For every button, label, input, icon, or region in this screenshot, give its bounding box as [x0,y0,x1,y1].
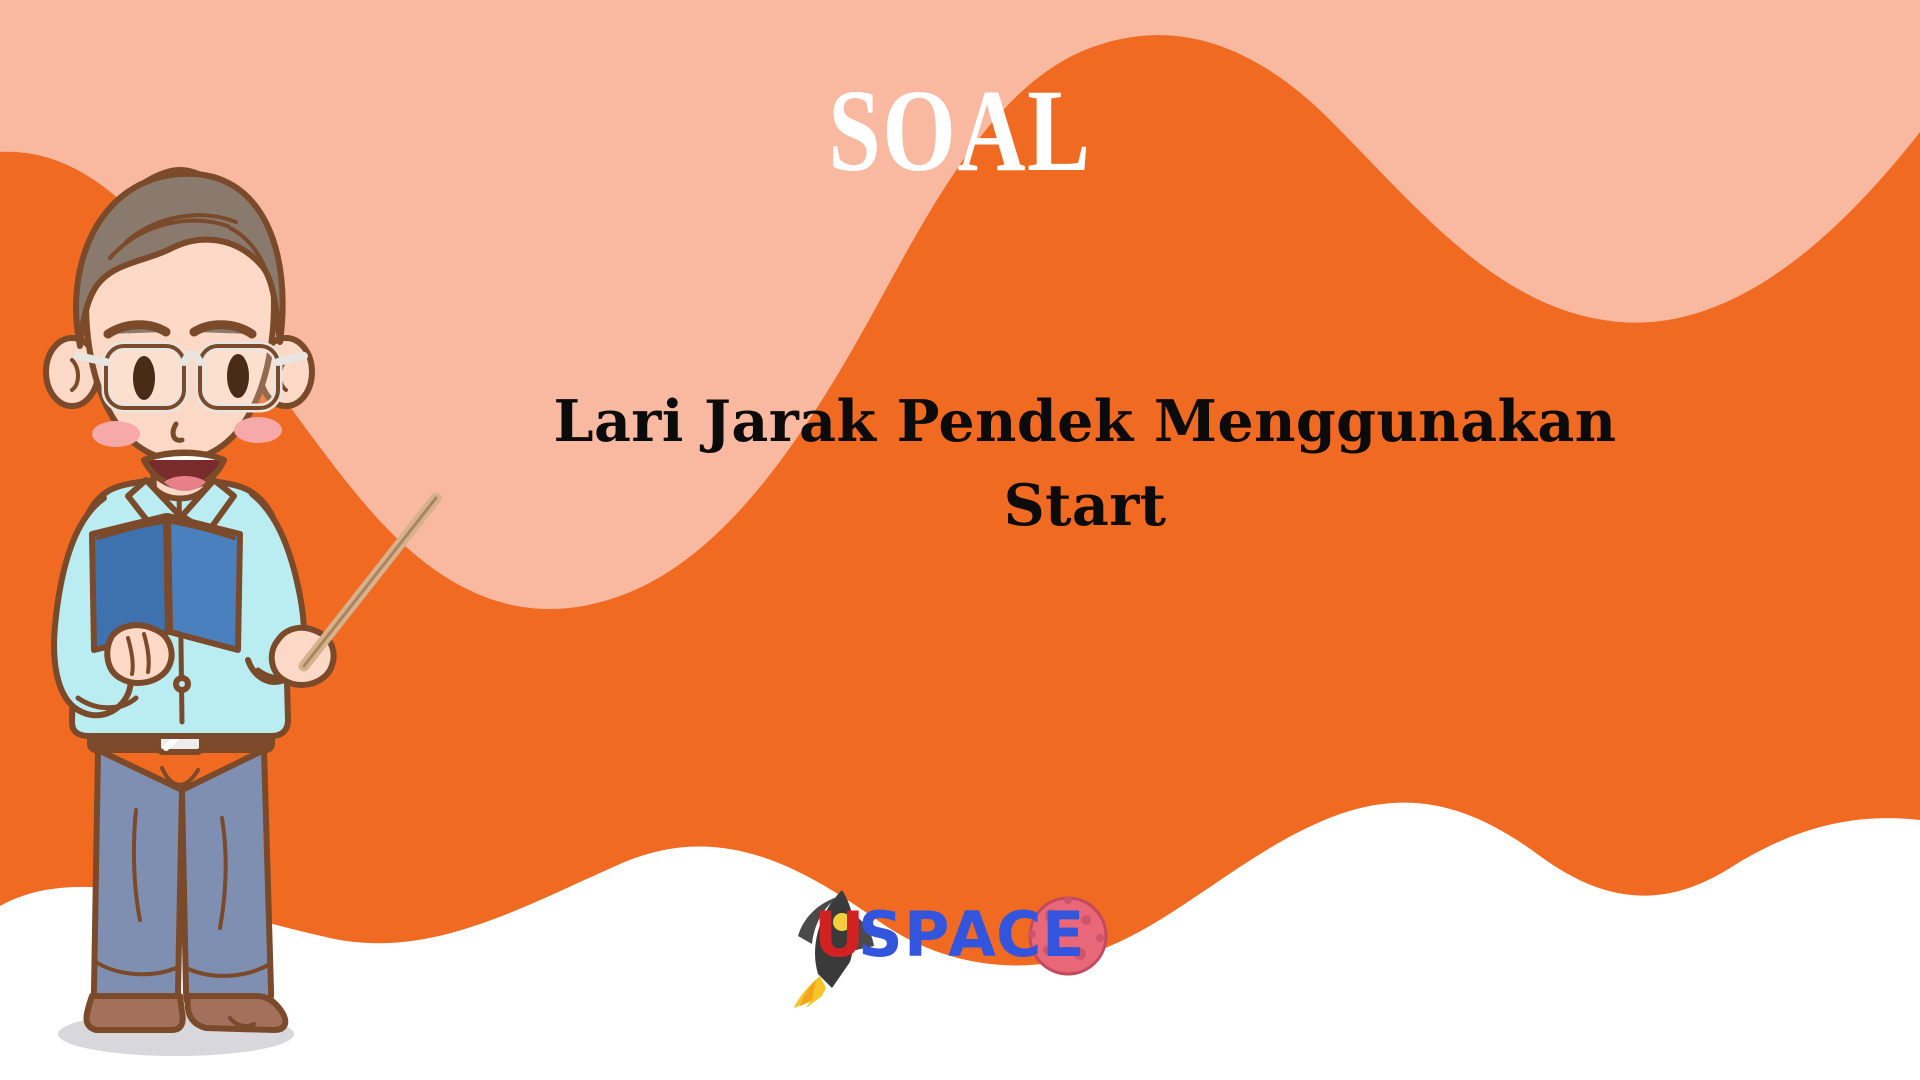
left-cheek [92,421,140,447]
teacher-illustration [0,150,466,1080]
left-eye [133,356,155,400]
logo-letter-c: C [996,898,1043,971]
page-title: SOAL [192,72,1728,190]
question-text: Lari Jarak Pendek Menggunakan Start [470,380,1700,549]
teeth [146,454,222,460]
question-text-line-2: Start [470,464,1700,548]
uspace-logo-graphic: U S P A C E [780,878,1120,1008]
slide-canvas: SOAL Lari Jarak Pendek Menggunakan Start [0,0,1920,1080]
left-hand [107,625,171,683]
question-text-line-1: Lari Jarak Pendek Menggunakan [470,380,1700,464]
right-eye [227,354,249,398]
logo-letter-e: E [1042,898,1085,971]
logo-letter-p: P [904,898,950,971]
shirt-button-3 [176,678,188,690]
logo-letter-a: A [948,898,997,971]
teacher-character-graphic [0,150,466,1080]
pointer-stick-outline [304,498,436,666]
left-shoe [87,996,183,1030]
logo-letter-s: S [858,898,904,971]
right-cheek [234,417,282,443]
uspace-logo[interactable]: U S P A C E [780,878,1120,1008]
